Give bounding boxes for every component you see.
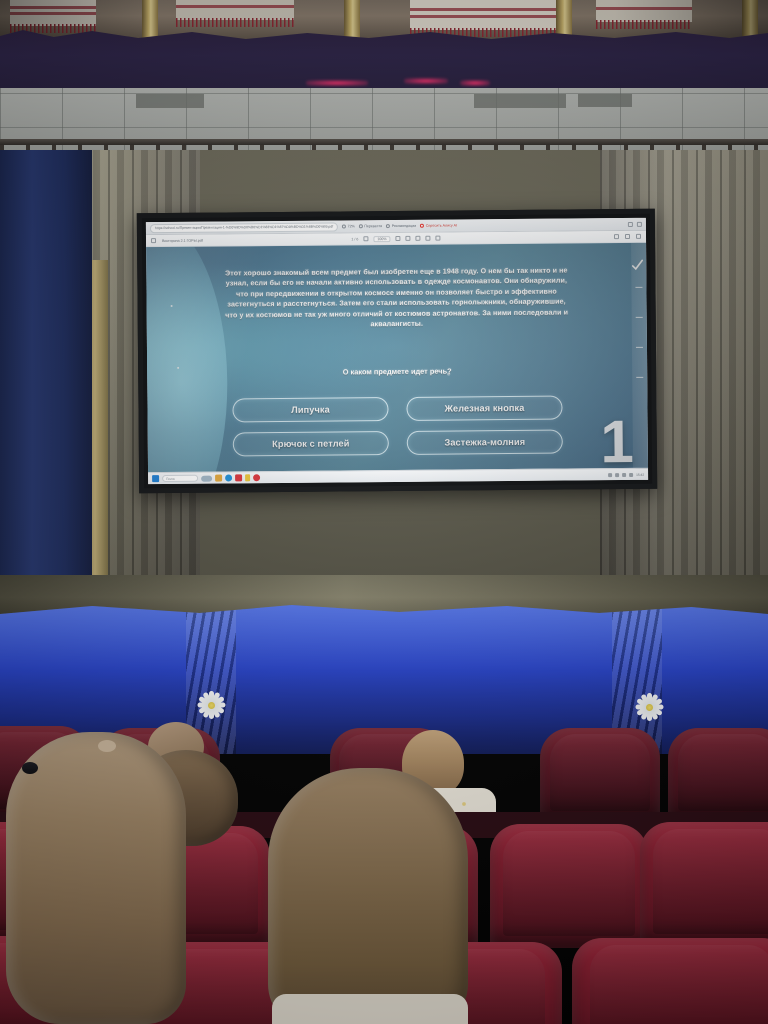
rushnyk-textile <box>410 0 560 30</box>
opera-icon[interactable] <box>253 474 260 481</box>
tray-icon <box>615 473 619 477</box>
theater-seat <box>640 822 768 946</box>
stage-light-glow <box>306 80 368 86</box>
print-button[interactable] <box>625 234 630 239</box>
page-indicator: 1 / 6 <box>351 237 358 241</box>
wooden-rolling-pin <box>142 0 158 40</box>
extensions-icon[interactable] <box>628 221 633 226</box>
theater-seat <box>572 938 768 1024</box>
zoom-label: 72% <box>348 224 355 228</box>
tray-icon <box>608 473 612 477</box>
tray-clock: 15:42 <box>636 472 644 476</box>
zoom-indicator[interactable]: 72% <box>342 224 355 228</box>
hair-bow <box>22 762 38 774</box>
answer-option-4[interactable]: Застежка-молния <box>407 430 563 455</box>
audience-person-head <box>6 732 186 1024</box>
system-tray[interactable]: 15:42 <box>608 472 644 476</box>
answer-option-3[interactable]: Крючок с петлей <box>233 431 389 456</box>
url-input[interactable]: https://school.ru/Презентации/Презентаци… <box>150 222 338 233</box>
ask-alice-button[interactable]: Спросить Алису AI <box>420 223 457 227</box>
theater-seat <box>490 824 648 948</box>
tab-label: Тест ПтиЧкин1 <box>304 218 327 219</box>
search-input[interactable]: Поиск <box>162 475 198 482</box>
browser-menu-icon[interactable] <box>637 221 642 226</box>
zoom-icon <box>342 224 346 228</box>
translate-button[interactable]: Перевести <box>359 224 382 228</box>
auditorium-scene: Тест ПтиЧкин1 Музей Арбузы https://schoo… <box>0 0 768 1024</box>
rushnyk-textile <box>596 0 692 22</box>
decorative-dot <box>177 367 179 369</box>
zoom-in-button[interactable] <box>396 236 401 241</box>
edge-icon[interactable] <box>225 474 232 481</box>
decorative-flower <box>634 692 664 722</box>
tab-favicon <box>299 218 302 219</box>
ceiling-vent <box>474 94 566 108</box>
tray-icon <box>629 472 633 476</box>
download-button[interactable] <box>614 234 619 239</box>
draw-button[interactable] <box>426 236 431 241</box>
yandex-icon[interactable] <box>245 474 250 481</box>
lightshot-icon[interactable] <box>235 474 242 481</box>
rotate-button[interactable] <box>416 236 421 241</box>
sidebar-toggle-icon[interactable] <box>151 238 156 243</box>
audience-person-head <box>268 768 468 1024</box>
theater-seat <box>668 728 768 820</box>
decorative-flower <box>196 690 226 720</box>
slide-question: О каком предмете идет речь? <box>221 365 573 377</box>
answer-option-2[interactable]: Железная кнопка <box>406 396 562 421</box>
folder-icon[interactable] <box>215 475 222 482</box>
ceiling-vent <box>578 94 632 107</box>
decorative-dot <box>171 305 173 307</box>
projection-screen: Тест ПтиЧкин1 Музей Арбузы https://schoo… <box>146 218 648 484</box>
blue-side-curtain <box>0 150 92 605</box>
decor-band <box>0 0 768 40</box>
audience-seating <box>0 726 768 1024</box>
alice-icon <box>420 224 424 228</box>
hair-clip <box>98 740 116 752</box>
stage-light-glow <box>404 78 448 84</box>
rushnyk-textile <box>176 0 294 20</box>
answer-option-1[interactable]: Липучка <box>232 397 388 422</box>
checkmark-icon <box>631 259 643 271</box>
wooden-rolling-pin <box>742 0 758 40</box>
start-icon[interactable] <box>152 475 159 482</box>
rushnyk-textile <box>10 0 96 26</box>
stage-light-glow <box>460 80 490 86</box>
wooden-rolling-pin <box>344 0 360 40</box>
pdf-file-name: Викторина 2.1 ГОРЫ.pdf <box>162 238 203 242</box>
ceiling-vent <box>136 94 204 108</box>
zoom-out-button[interactable] <box>363 236 368 241</box>
quiz-slide: Этот хорошо знакомый всем предмет был из… <box>146 243 648 472</box>
projection-screen-frame: Тест ПтиЧкин1 Музей Арбузы https://schoo… <box>137 209 657 494</box>
theater-seat <box>540 728 660 820</box>
recommendations-button[interactable]: Рекомендации <box>386 224 416 228</box>
translate-label: Перевести <box>364 224 382 228</box>
pdf-center-controls: 1 / 6 100% <box>351 235 440 242</box>
answer-options: Липучка Железная кнопка Крючок с петлей … <box>232 396 562 457</box>
comment-button[interactable] <box>436 236 441 241</box>
slide-body-text: Этот хорошо знакомый всем предмет был из… <box>220 265 573 331</box>
explorer-icon[interactable] <box>201 475 212 481</box>
zoom-level[interactable]: 100% <box>373 236 390 242</box>
pdf-scroll-strip[interactable] <box>631 243 648 468</box>
star-icon <box>386 224 390 228</box>
translate-icon <box>359 224 363 228</box>
tray-icon <box>622 473 626 477</box>
ask-alice-label: Спросить Алису AI <box>426 223 457 227</box>
fit-page-button[interactable] <box>406 236 411 241</box>
pdf-menu-button[interactable] <box>636 234 641 239</box>
recommendations-label: Рекомендации <box>392 224 417 228</box>
decorative-arc <box>146 243 229 472</box>
slide-number: 1 <box>600 412 634 472</box>
audience-person-shirt <box>272 994 468 1024</box>
